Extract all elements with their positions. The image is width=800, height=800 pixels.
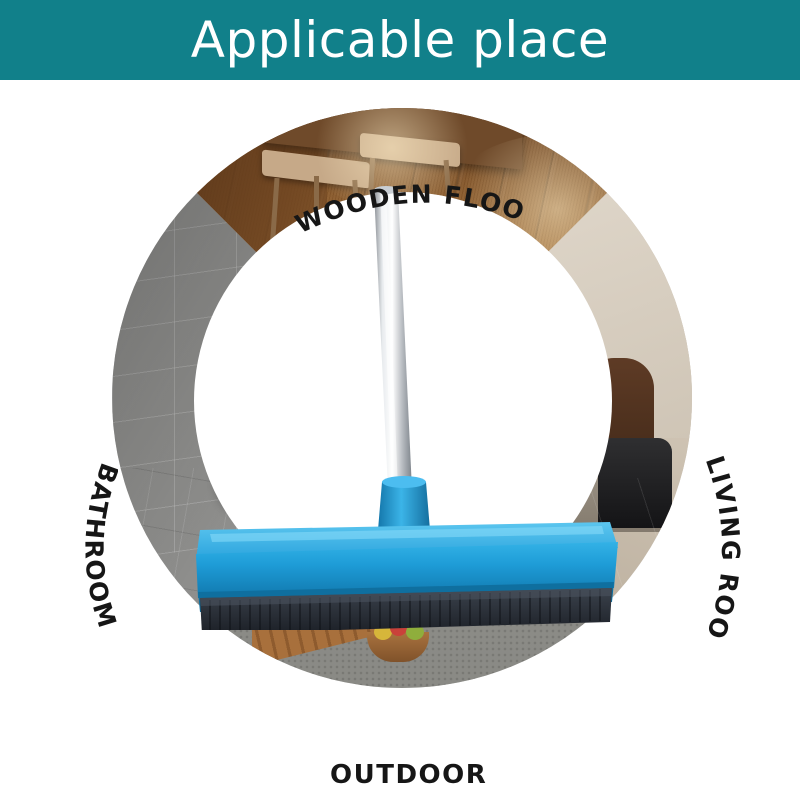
- label-bathroom: BATHROOM: [58, 450, 118, 646]
- applicable-place-collage: WOODEN FLOOR BATHROOM LIVING ROOM OUTDOO…: [0, 80, 800, 800]
- center-white-disc: [194, 192, 612, 610]
- label-living-room-text: LIVING ROOM: [690, 448, 745, 644]
- label-outdoor: OUTDOOR: [330, 760, 487, 790]
- label-bathroom-text: BATHROOM: [79, 459, 118, 632]
- label-living-room: LIVING ROOM: [690, 448, 750, 654]
- label-wooden-floor: WOODEN FLOOR: [292, 184, 532, 250]
- page-title: Applicable place: [191, 15, 609, 65]
- label-wooden-floor-text: WOODEN FLOOR: [292, 184, 529, 239]
- header-banner: Applicable place: [0, 0, 800, 80]
